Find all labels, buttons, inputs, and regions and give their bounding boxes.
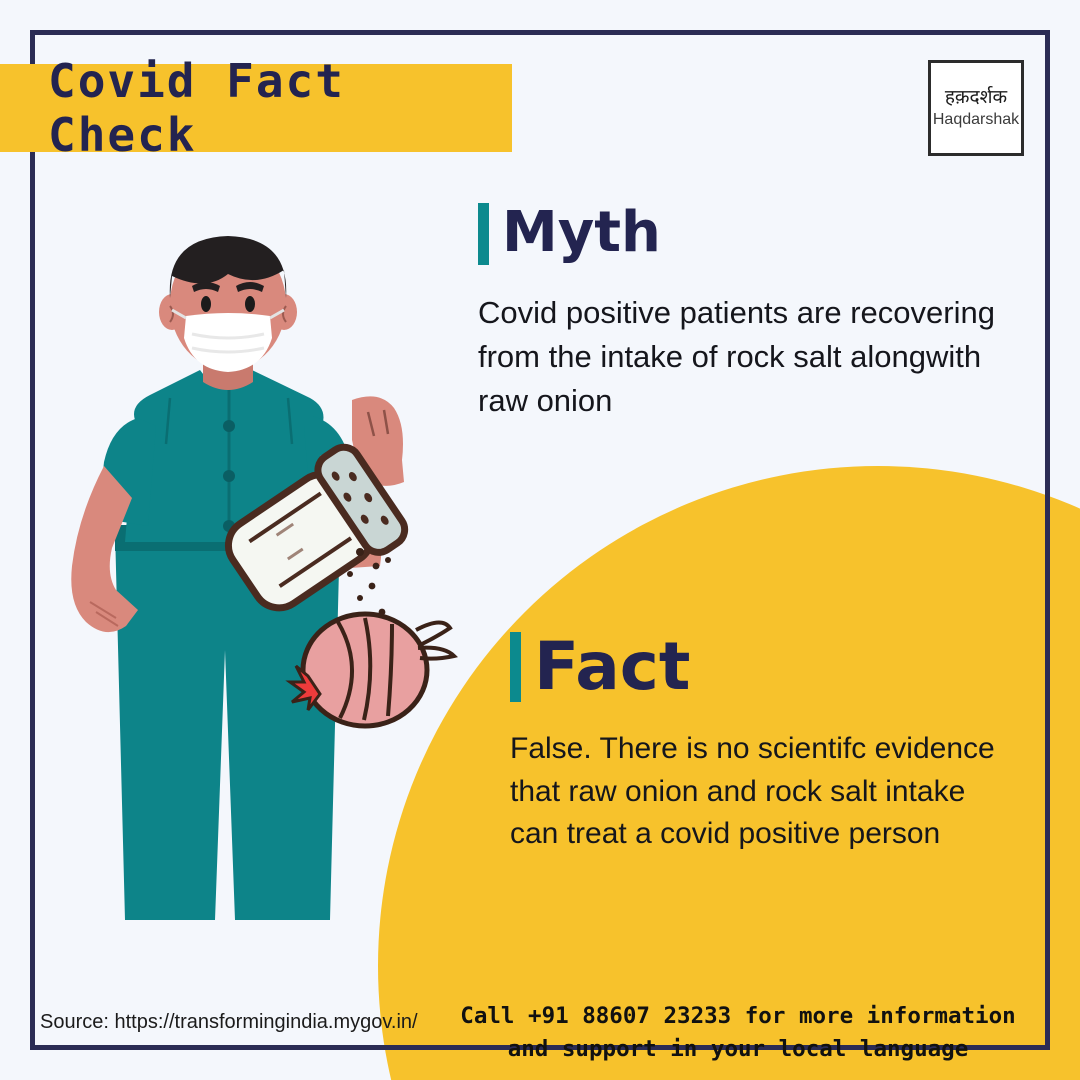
face-mask	[172, 310, 284, 372]
myth-accent-bar	[478, 203, 489, 265]
myth-section: Myth Covid positive patients are recover…	[478, 203, 1018, 423]
logo-latin-text: Haqdarshak	[933, 111, 1019, 129]
source-attribution: Source: https://transformingindia.mygov.…	[40, 1011, 418, 1034]
logo-devanagari-text: हक़दर्शक	[945, 87, 1007, 108]
myth-heading: Myth	[502, 203, 661, 265]
poster-canvas: Covid Fact Check हक़दर्शक Haqdarshak Myt…	[0, 0, 1080, 1080]
call-to-action: Call +91 88607 23233 for more informatio…	[448, 1000, 1028, 1065]
illustration-health-worker	[20, 230, 490, 950]
cta-line-1: Call +91 88607 23233 for more informatio…	[448, 1000, 1028, 1033]
fact-heading-row: Fact	[510, 632, 1010, 702]
haqdarshak-logo: हक़दर्शक Haqdarshak	[928, 60, 1024, 156]
myth-heading-row: Myth	[478, 203, 1018, 265]
fact-body-text: False. There is no scientifc evidence th…	[510, 728, 1010, 856]
fact-heading: Fact	[534, 632, 690, 702]
fact-section: Fact False. There is no scientifc eviden…	[510, 632, 1010, 856]
fact-accent-bar	[510, 632, 521, 702]
title-banner: Covid Fact Check	[0, 64, 512, 152]
page-title: Covid Fact Check	[48, 54, 512, 162]
cta-line-2: and support in your local language	[448, 1033, 1028, 1066]
myth-body-text: Covid positive patients are recovering f…	[478, 291, 1018, 423]
